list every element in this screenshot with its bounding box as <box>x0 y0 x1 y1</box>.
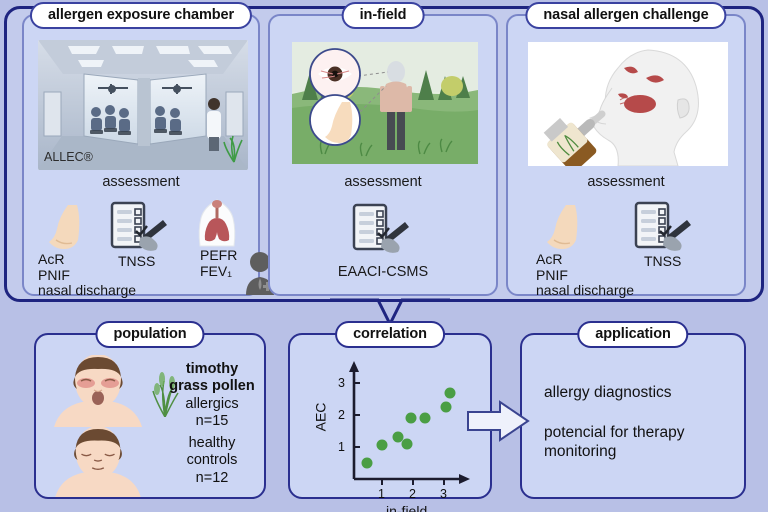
allec-trademark-label: ALLEC® <box>44 150 93 164</box>
panel-title-allergen-exposure-chamber: allergen exposure chamber <box>30 2 252 29</box>
metric-acr: AcR <box>536 251 562 267</box>
panel-in-field: in-field <box>268 14 498 296</box>
allergic-person-illustration <box>50 355 146 427</box>
application-line-diagnostics: allergy diagnostics <box>544 383 672 402</box>
nasal-challenge-illustration <box>528 42 728 166</box>
metric-nasal-discharge: nasal discharge <box>38 282 136 298</box>
panel-application: application allergy diagnostics potencia… <box>520 333 746 499</box>
population-allergen-line1: timothy <box>186 361 238 377</box>
population-healthy-label: healthy <box>189 435 236 451</box>
metric-labels-acr-pnif: AcR PNIF nasal discharge <box>536 252 634 299</box>
scatter-point <box>440 402 451 413</box>
application-therapy-line2: monitoring <box>544 443 616 460</box>
metric-tnss-chamber: TNSS <box>118 254 155 270</box>
population-group-allergics: timothy grass pollen allergics n=15 <box>162 361 262 431</box>
panel-allergen-exposure-chamber: allergen exposure chamber <box>22 14 260 296</box>
panel-title-nasal-allergen-challenge: nasal allergen challenge <box>525 2 726 29</box>
panel-nasal-allergen-challenge: nasal allergen challenge <box>506 14 746 296</box>
population-allergics-label: allergics <box>185 396 238 412</box>
scatter-point <box>377 440 388 451</box>
metric-labels-pefr-fev: PEFR FEV₁ <box>200 248 237 279</box>
panel-population: population timothy grass pollen allergic… <box>34 333 266 499</box>
population-group-controls: healthy controls n=12 <box>162 435 262 487</box>
metric-pnif: PNIF <box>536 267 568 283</box>
clipboard-pen-icon <box>352 202 410 259</box>
metric-nasal-discharge: nasal discharge <box>536 282 634 298</box>
population-allergen-line2: grass pollen <box>169 378 254 394</box>
metric-eaaci-csms: EAACI-CSMS <box>270 264 496 280</box>
assessment-caption-in-field: assessment <box>270 174 496 190</box>
assessment-caption-chamber: assessment <box>24 174 258 190</box>
metric-pefr: PEFR <box>200 247 237 263</box>
assessment-caption-nac: assessment <box>508 174 744 190</box>
metric-pnif: PNIF <box>38 267 70 283</box>
scatter-point <box>361 458 372 469</box>
metric-acr: AcR <box>38 251 64 267</box>
scatter-point <box>420 413 431 424</box>
population-controls-label: controls <box>187 452 238 468</box>
population-controls-n: n=12 <box>196 470 229 486</box>
panel-title-in-field: in-field <box>342 2 425 29</box>
scatter-point <box>445 387 456 398</box>
clipboard-pen-icon <box>634 200 692 257</box>
scatter-point <box>406 413 417 424</box>
scatter-points-group <box>312 353 482 491</box>
population-allergics-n: n=15 <box>196 413 229 429</box>
correlation-to-application-arrow <box>466 398 530 446</box>
panel-title-population: population <box>95 321 204 348</box>
application-line-therapy: potencial for therapy monitoring <box>544 423 684 462</box>
panel-title-correlation: correlation <box>335 321 445 348</box>
scatter-point <box>401 438 412 449</box>
scatter-plot: 1 2 3 1 2 3 AEC in-field <box>312 353 482 491</box>
application-therapy-line1: potencial for therapy <box>544 424 684 441</box>
metric-fev1: FEV₁ <box>200 263 232 279</box>
panel-correlation: correlation 1 2 3 1 2 3 AEC in-field <box>288 333 492 499</box>
healthy-person-illustration <box>50 427 146 497</box>
clipboard-pen-icon <box>110 200 168 257</box>
x-axis-label: in-field <box>386 503 427 512</box>
in-field-illustration <box>292 42 478 164</box>
metric-tnss-nac: TNSS <box>644 254 681 270</box>
panel-title-application: application <box>577 321 688 348</box>
